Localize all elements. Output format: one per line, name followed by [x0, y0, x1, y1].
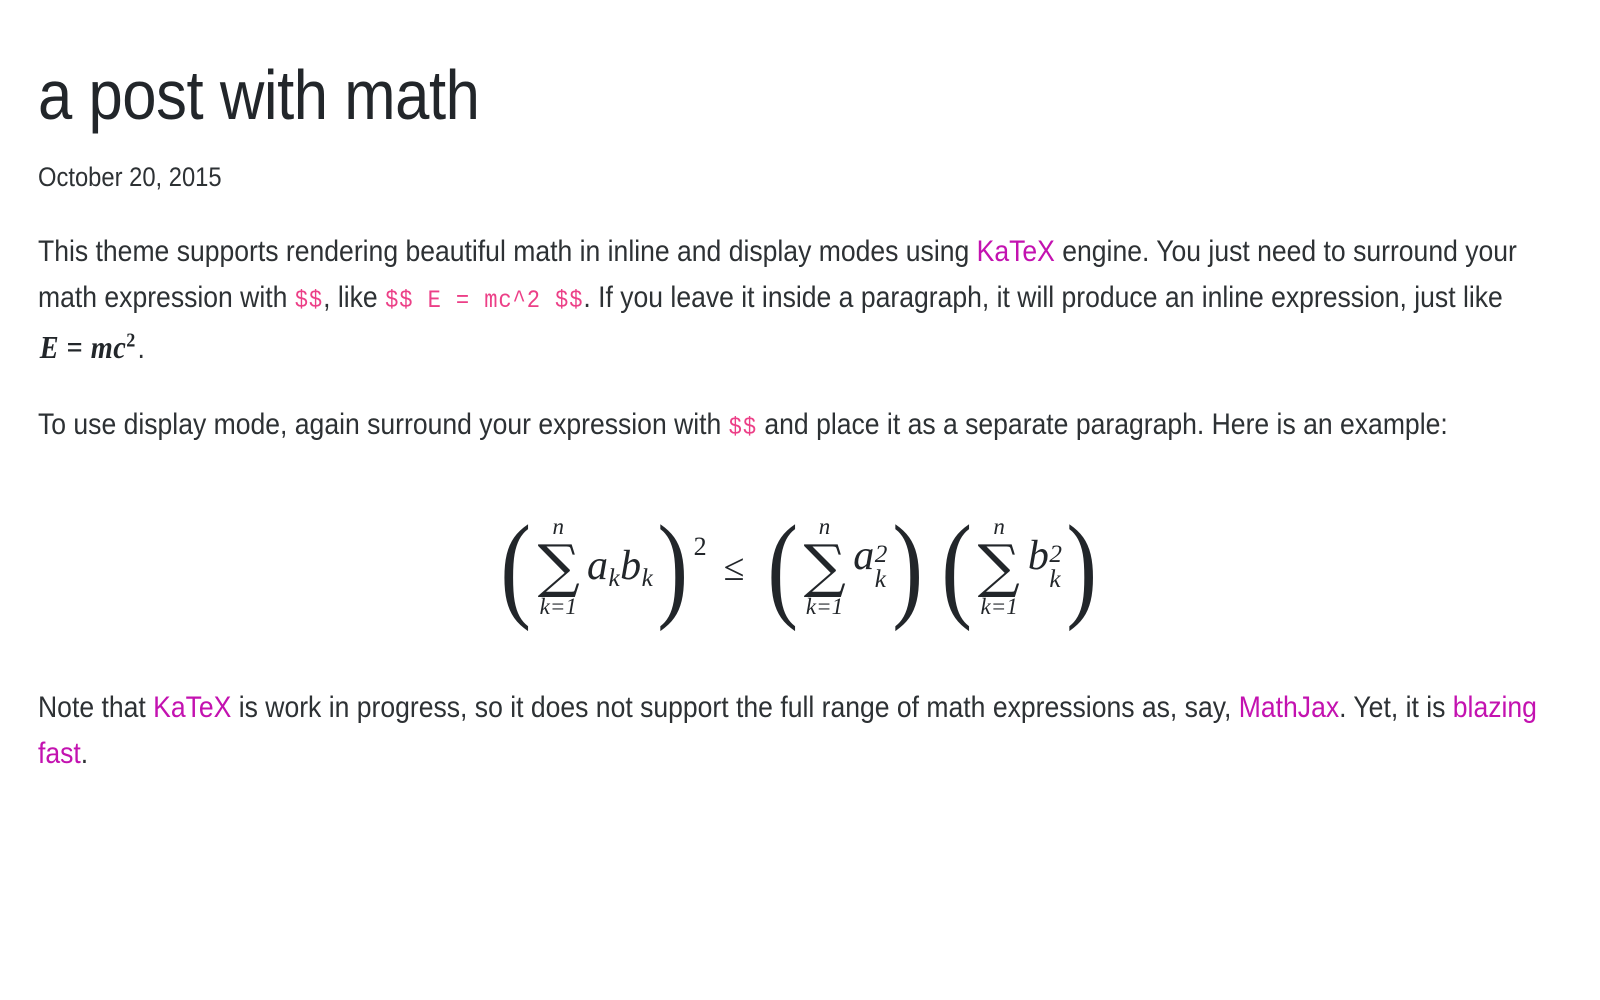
term-a: a	[587, 543, 609, 589]
code-dollars-2: $$	[729, 413, 757, 442]
paragraph3-seg1: Note that	[38, 691, 153, 724]
term-b: b	[620, 543, 642, 589]
term2-sup: 2	[875, 542, 888, 567]
page-title: a post with math	[38, 58, 1377, 134]
paragraph2-seg2: and place it as a separate paragraph. He…	[757, 408, 1448, 441]
right-paren-2: )	[892, 519, 923, 616]
sigma-icon-1: ∑	[537, 540, 579, 593]
paragraph1-seg3: , like	[323, 281, 385, 314]
relation-leq: ≤	[706, 546, 763, 590]
math-group-middle: ( n ∑ k=1 a2k )	[763, 514, 928, 617]
post-body: This theme supports rendering beautiful …	[38, 229, 1560, 777]
term-b-sub: k	[642, 565, 654, 592]
link-katex-2[interactable]: KaTeX	[153, 691, 231, 724]
paragraph3-seg4: .	[81, 737, 88, 770]
summation-1: n ∑ k=1	[538, 515, 579, 618]
sigma-icon-2: ∑	[803, 540, 845, 593]
term2-base: a	[853, 533, 875, 579]
paragraph-intro: This theme supports rendering beautiful …	[38, 229, 1560, 372]
term-akbk: akbk	[581, 542, 653, 590]
left-paren-2: (	[767, 519, 798, 616]
term3-sub: k	[1049, 567, 1061, 592]
right-paren-3: )	[1067, 519, 1098, 616]
paragraph-display-mode: To use display mode, again surround your…	[38, 402, 1560, 451]
code-example-emc2: $$ E = mc^2 $$	[385, 286, 583, 315]
right-paren-1: )	[658, 519, 689, 616]
paragraph-note: Note that KaTeX is work in progress, so …	[38, 685, 1560, 777]
paragraph1-seg5: .	[137, 332, 144, 365]
link-katex-1[interactable]: KaTeX	[977, 235, 1055, 268]
summation-3: n ∑ k=1	[978, 515, 1019, 618]
paragraph1-seg1: This theme supports rendering beautiful …	[38, 235, 977, 268]
term-a-sub: k	[608, 565, 620, 592]
paragraph1-seg4: . If you leave it inside a paragraph, it…	[583, 281, 1502, 314]
post-page: a post with math October 20, 2015 This t…	[0, 0, 1600, 1000]
term3-sup: 2	[1049, 542, 1062, 567]
paragraph3-seg2: is work in progress, so it does not supp…	[231, 691, 1238, 724]
sigma-icon-3: ∑	[978, 540, 1020, 593]
term-bk-squared: b2k	[1022, 532, 1063, 600]
summation-2: n ∑ k=1	[804, 515, 845, 618]
cauchy-schwarz-equation: ( n ∑ k=1 akbk ) 2 ≤ ( n ∑	[496, 514, 1101, 617]
term2-sub: k	[875, 567, 887, 592]
link-mathjax[interactable]: MathJax	[1239, 691, 1339, 724]
inline-math-emc2: E = mc2	[38, 329, 137, 365]
left-paren-3: (	[941, 519, 972, 616]
left-paren-1: (	[501, 519, 532, 616]
math-group-left: ( n ∑ k=1 akbk ) 2	[496, 514, 705, 617]
term3-base: b	[1028, 533, 1050, 579]
display-math-block: ( n ∑ k=1 akbk ) 2 ≤ ( n ∑	[38, 481, 1560, 651]
paragraph3-seg3: . Yet, it is	[1339, 691, 1453, 724]
code-dollars-1: $$	[295, 286, 323, 315]
term3-script-stack: 2k	[1049, 542, 1062, 592]
term2-script-stack: 2k	[875, 542, 888, 592]
math-group-right: ( n ∑ k=1 b2k )	[937, 514, 1102, 617]
paragraph2-seg1: To use display mode, again surround your…	[38, 408, 729, 441]
post-date: October 20, 2015	[38, 160, 1377, 195]
term-ak-squared: a2k	[847, 532, 888, 600]
